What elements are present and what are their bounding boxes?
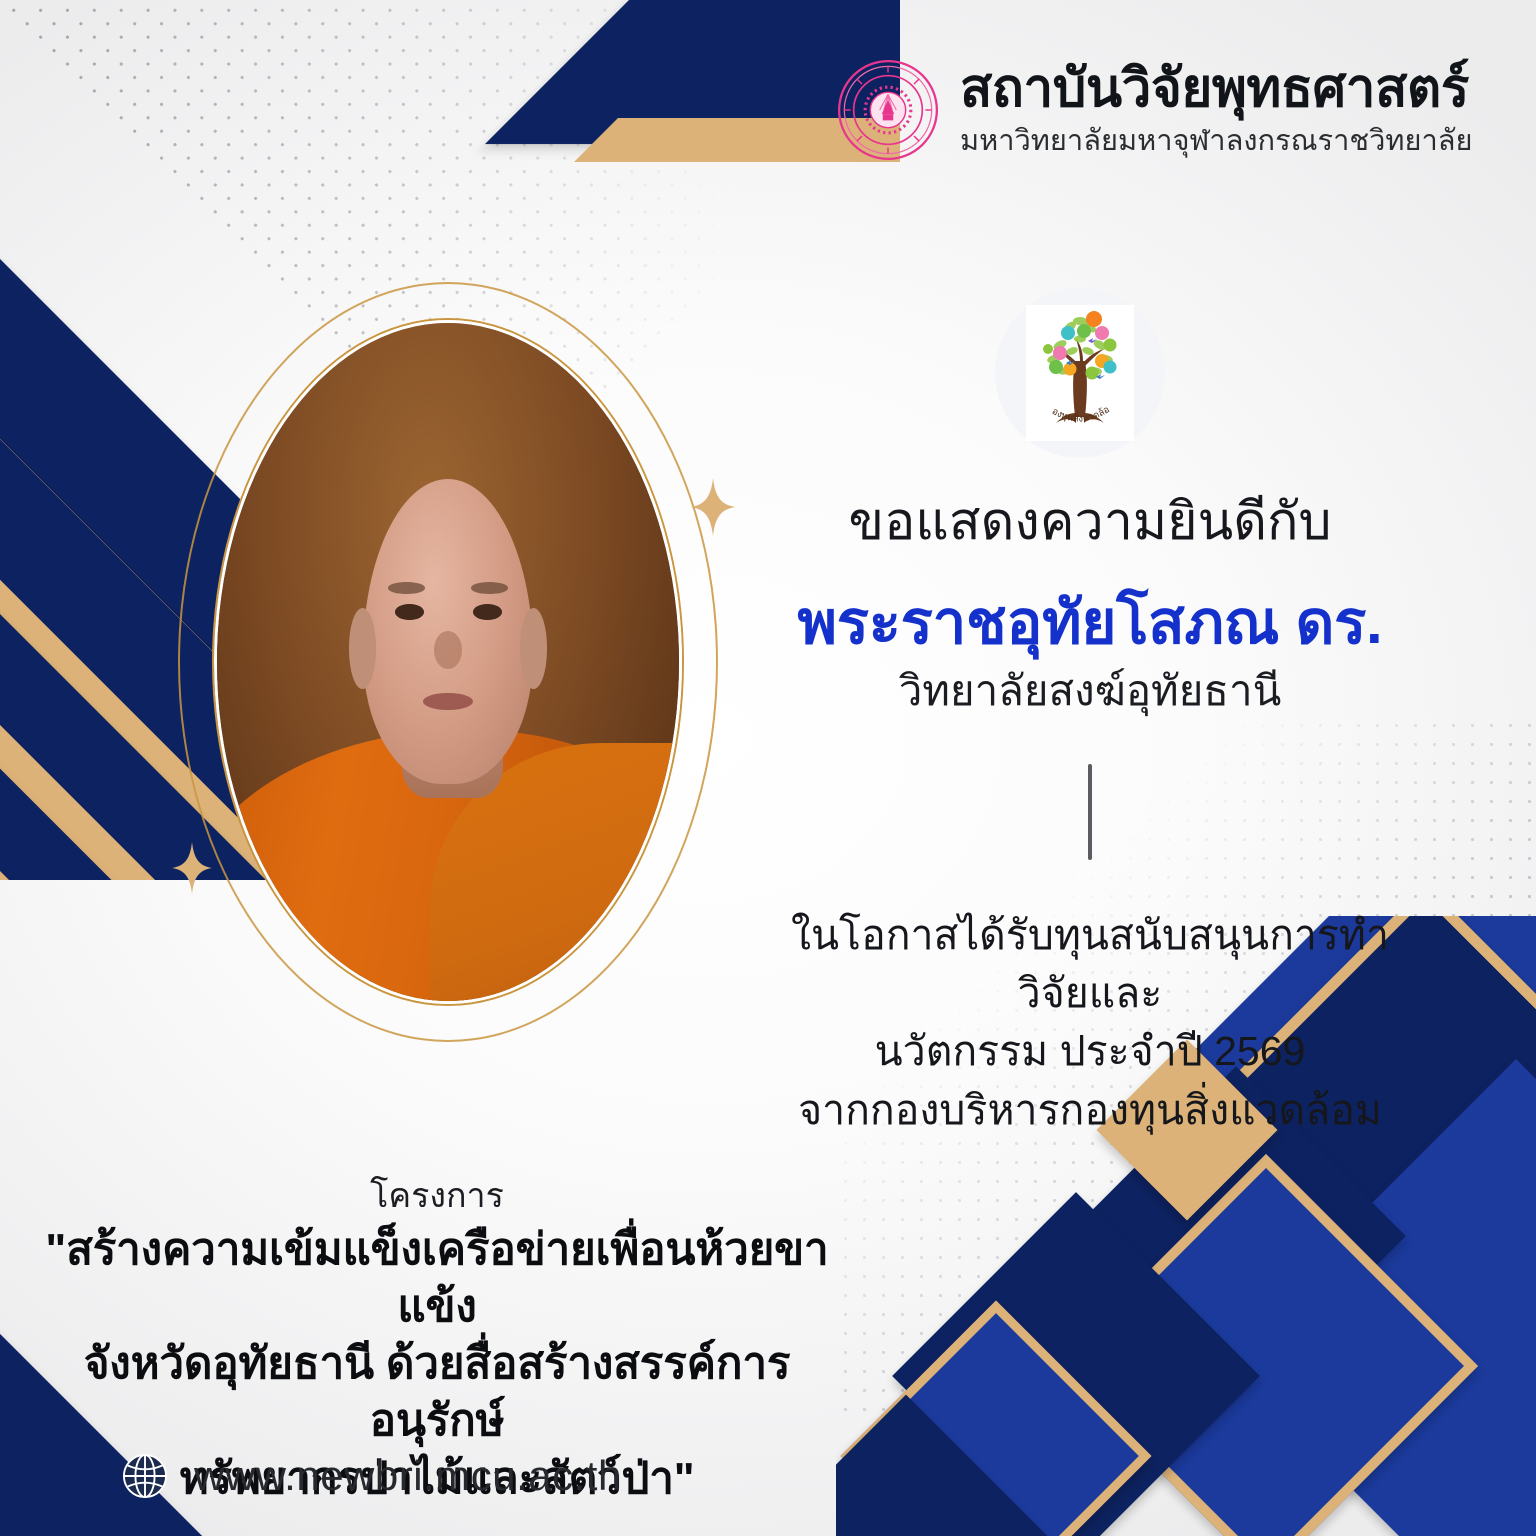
congratulation-heading: ขอแสดงความยินดีกับ xyxy=(790,492,1390,553)
honoree-portrait xyxy=(178,282,718,1042)
section-divider xyxy=(1088,764,1092,860)
congratulation-text-block: ขอแสดงความยินดีกับ พระราชอุทัยโสภณ ดร. ว… xyxy=(790,492,1390,1139)
project-label: โครงการ xyxy=(32,1176,842,1217)
grant-line-2: นวัตกรรม ประจำปี 2569 xyxy=(790,1022,1390,1080)
environment-fund-tree-icon: กองทุนสิ่งแวดล้อม xyxy=(1026,305,1134,441)
portrait-photo xyxy=(214,320,682,1004)
environment-fund-logo: กองทุนสิ่งแวดล้อม xyxy=(995,288,1165,458)
globe-icon xyxy=(122,1453,168,1499)
website-url[interactable]: www.newbri.mcu.ac.th xyxy=(194,1452,622,1500)
mcu-emblem-icon xyxy=(836,58,940,162)
website-footer[interactable]: www.newbri.mcu.ac.th xyxy=(122,1452,622,1500)
honoree-affiliation: วิทยาลัยสงฆ์อุทัยธานี xyxy=(790,665,1390,718)
institute-name: สถาบันวิจัยพุทธศาสตร์ xyxy=(960,61,1473,117)
grant-line-3: จากกองบริหารกองทุนสิ่งแวดล้อม xyxy=(790,1081,1390,1139)
poster-canvas: สถาบันวิจัยพุทธศาสตร์ มหาวิทยาลัยมหาจุฬา… xyxy=(0,0,1536,1536)
grant-line-1: ในโอกาสได้รับทุนสนับสนุนการทำวิจัยและ xyxy=(790,906,1390,1022)
project-title-line-1: "สร้างความเข้มแข็งเครือข่ายเพื่อนห้วยขาแ… xyxy=(32,1221,842,1335)
sparkle-icon-left xyxy=(172,842,212,894)
project-title-line-2: จังหวัดอุทัยธานี ด้วยสื่อสร้างสรรค์การอน… xyxy=(32,1335,842,1449)
grant-description: ในโอกาสได้รับทุนสนับสนุนการทำวิจัยและ นว… xyxy=(790,906,1390,1139)
university-name: มหาวิทยาลัยมหาจุฬาลงกรณราชวิทยาลัย xyxy=(960,124,1473,159)
institute-header: สถาบันวิจัยพุทธศาสตร์ มหาวิทยาลัยมหาจุฬา… xyxy=(836,58,1473,162)
institute-title-group: สถาบันวิจัยพุทธศาสตร์ มหาวิทยาลัยมหาจุฬา… xyxy=(960,61,1473,158)
honoree-name: พระราชอุทัยโสภณ ดร. xyxy=(790,587,1390,659)
